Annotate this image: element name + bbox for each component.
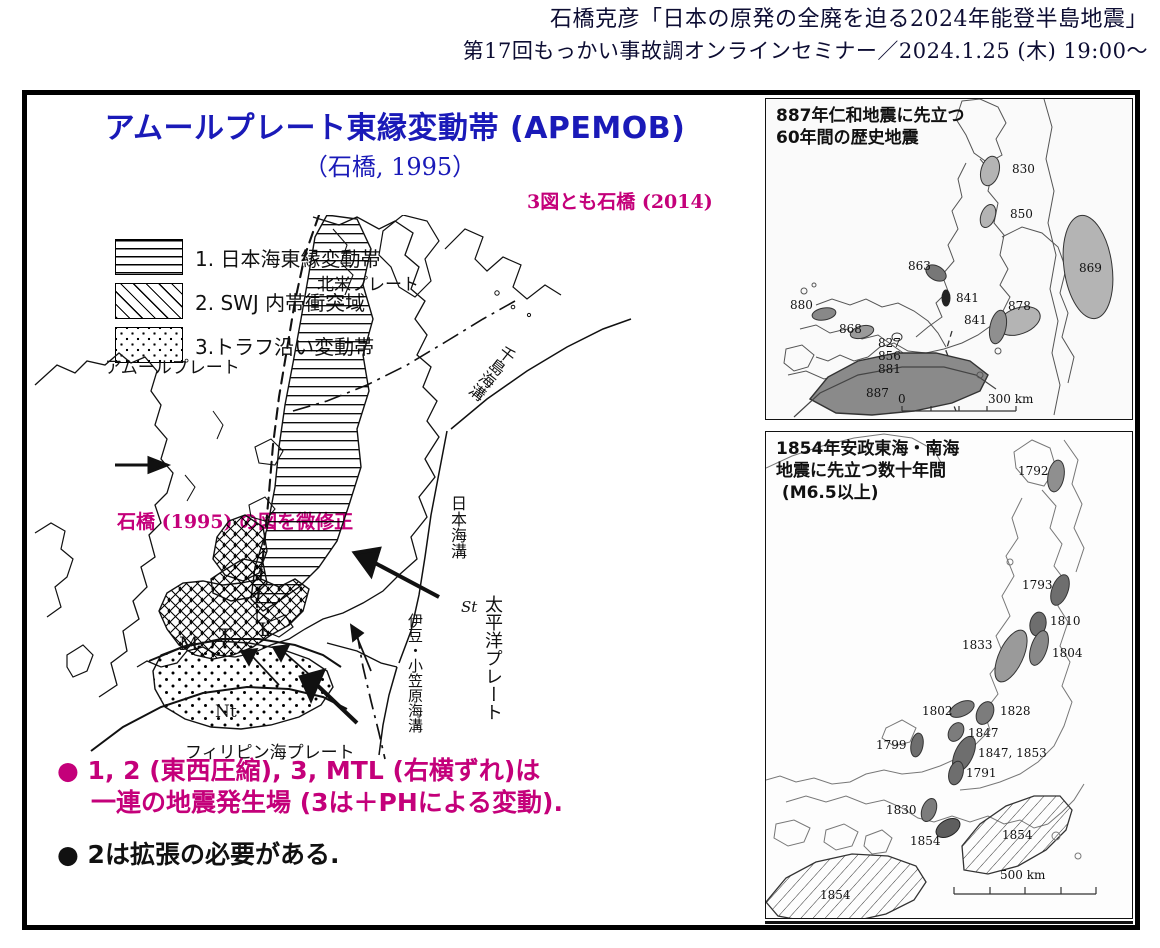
inset-bottom-title-line-2: 地震に先立つ数十年間 <box>776 461 946 481</box>
tectonic-map: アムールプレート 北米プレート 千島海溝 日本海溝 伊豆・小笠原海溝 太平洋プレ… <box>27 215 757 760</box>
event-year: 1833 <box>962 638 993 652</box>
map-label-izu-ogasawara-trench: 伊豆・小笠原海溝 <box>405 613 426 733</box>
inset-top-title: 887年仁和地震に先立つ 60年間の歴史地震 <box>776 105 965 149</box>
event-year: 869 <box>1079 261 1102 275</box>
event-year: 1792 <box>1018 464 1049 478</box>
bullet-item-2: ● 2は拡張の必要がある. <box>57 839 757 871</box>
event-year: 1828 <box>1000 704 1031 718</box>
bullet-1-line-1: ● 1, 2 (東西圧縮), 3, MTL (右横ずれ)は <box>57 755 757 787</box>
map-label-mtl-m: M <box>179 633 198 655</box>
inset-map-887-nina: 887年仁和地震に先立つ 60年間の歴史地震 830 850 869 863 8… <box>765 98 1133 420</box>
header-line-1: 石橋克彦「日本の原発の全廃を迫る2024年能登半島地震」 <box>0 4 1148 36</box>
map-label-mtl-l: L <box>259 619 272 641</box>
inset-bottom-svg <box>766 432 1133 919</box>
event-year: 1802 <box>922 704 953 718</box>
event-year: 1854 <box>820 888 851 902</box>
event-year: 1793 <box>1022 578 1053 592</box>
event-year: 841 <box>956 291 979 305</box>
main-figure-panel: アムールプレート東縁変動帯 (APEMOB) （石橋, 1995） 3図とも石橋… <box>27 95 757 925</box>
event-year: 1854 <box>1002 828 1033 842</box>
map-label-suruga-trough: St <box>461 598 477 616</box>
scale-label: 500 km <box>1000 868 1045 882</box>
seminar-header: 石橋克彦「日本の原発の全廃を迫る2024年能登半島地震」 第17回もっかい事故調… <box>0 4 1148 66</box>
inset-bottom-title-line-1: 1854年安政東海・南海 <box>776 439 959 459</box>
event-year: 856 <box>878 349 901 363</box>
header-line-2: 第17回もっかい事故調オンラインセミナー／2024.1.25 (木) 19:00… <box>0 36 1148 66</box>
inset-top-title-line-2: 60年間の歴史地震 <box>776 128 919 148</box>
bullet-marker-icon: ● <box>57 840 79 869</box>
event-year: 881 <box>878 362 901 376</box>
map-label-mtl-t: T <box>219 625 232 647</box>
map-label-nankai-trough: Nt <box>215 702 237 722</box>
map-label-amur-plate: アムールプレート <box>105 353 240 378</box>
slide-title: アムールプレート東縁変動帯 (APEMOB) <box>45 103 745 147</box>
event-year: 887 <box>866 386 889 400</box>
map-label-pacific-plate: 太平洋プレート <box>479 595 505 721</box>
slide-subtitle: （石橋, 1995） <box>45 147 735 182</box>
event-year: 1799 <box>876 738 907 752</box>
event-year: 827 <box>878 336 901 350</box>
scale-zero: 0 <box>898 392 906 406</box>
figure-credit: 3図とも石橋 (2014) <box>527 187 713 214</box>
bullet-2-line-1: ● 2は拡張の必要がある. <box>57 839 757 871</box>
event-year: 1854 <box>910 834 941 848</box>
event-year: 1804 <box>1052 646 1083 660</box>
bullet-2-text-1: 2は拡張の必要がある. <box>88 840 340 869</box>
event-year: 863 <box>908 259 931 273</box>
event-year: 1830 <box>886 803 917 817</box>
bullet-marker-icon: ● <box>57 756 79 785</box>
bullet-1-text-1: 1, 2 (東西圧縮), 3, MTL (右横ずれ)は <box>88 756 541 785</box>
inset-map-1854-ansei: 1854年安政東海・南海 地震に先立つ数十年間 (M6.5以上) 1792 17… <box>765 431 1133 919</box>
event-year: 841 <box>964 313 987 327</box>
slide-frame: アムールプレート東縁変動帯 (APEMOB) （石橋, 1995） 3図とも石橋… <box>22 90 1140 930</box>
bullet-item-1: ● 1, 2 (東西圧縮), 3, MTL (右横ずれ)は 一連の地震発生場 (… <box>57 755 757 819</box>
event-year: 1810 <box>1050 614 1081 628</box>
event-year: 850 <box>1010 207 1033 221</box>
inset-bottom-title: 1854年安政東海・南海 地震に先立つ数十年間 (M6.5以上) <box>776 438 959 504</box>
event-year: 1847 <box>968 726 999 740</box>
inset-bottom-title-line-3: (M6.5以上) <box>776 483 879 503</box>
scale-label: 300 km <box>988 392 1033 406</box>
inset-bottom-rule <box>765 921 1133 924</box>
map-label-north-american-plate: 北米プレート <box>317 270 419 295</box>
event-year: 878 <box>1008 299 1031 313</box>
pacific-plate-arrow <box>355 549 439 597</box>
event-year: 1791 <box>966 766 997 780</box>
event-year: 868 <box>839 322 862 336</box>
event-year: 830 <box>1012 162 1035 176</box>
bullet-list: ● 1, 2 (東西圧縮), 3, MTL (右横ずれ)は 一連の地震発生場 (… <box>57 755 757 871</box>
inset-top-title-line-1: 887年仁和地震に先立つ <box>776 106 965 126</box>
bullet-1-line-2: 一連の地震発生場 (3は＋PHによる変動). <box>57 787 757 819</box>
event-year: 880 <box>790 298 813 312</box>
map-label-japan-trench: 日本海溝 <box>445 495 469 559</box>
tectonic-map-svg <box>27 215 757 760</box>
event-year: 1847, 1853 <box>978 746 1047 760</box>
